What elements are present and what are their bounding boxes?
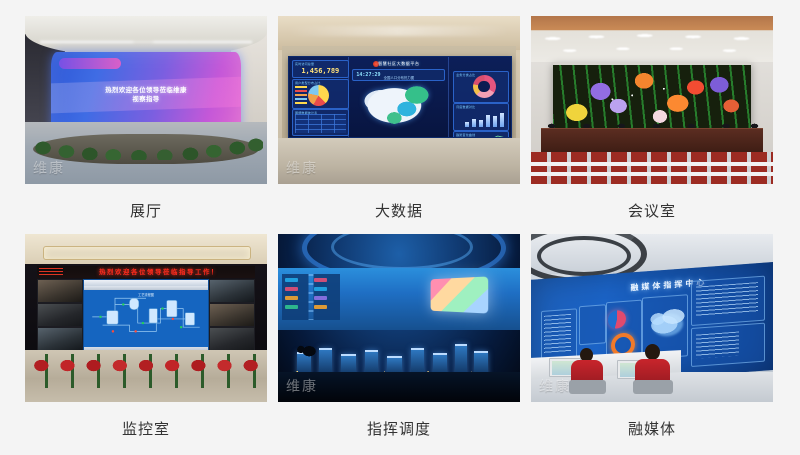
gallery-item-conference-room[interactable]: 会议室 (531, 16, 773, 234)
camera-column-left (37, 279, 83, 351)
kpi-card-title: 实时访问总量 (295, 62, 314, 66)
wall-panel-text-lines (696, 331, 740, 358)
pie-chart-card: 用户类型分布占比 (292, 79, 349, 109)
red-poinsettia-row (27, 354, 265, 388)
person-silhouette (296, 344, 318, 362)
seated-operator (567, 346, 609, 394)
line-chart-card: 趋势变化曲线 (453, 131, 509, 138)
donut-chart-card: 业务分类占比 (453, 71, 509, 103)
camera-tile (37, 303, 83, 327)
watermark-label: 维康 (286, 158, 318, 178)
wall-panel (579, 305, 605, 346)
watermark-label: 维康 (539, 376, 571, 396)
watermark-label: 维康 (286, 376, 318, 396)
donut-chart-graphic (473, 75, 496, 98)
dashboard-header-title: 智慧社区大数据平台 (349, 61, 448, 67)
office-chair (569, 380, 606, 394)
camera-tile (37, 279, 83, 303)
gallery-item-command-dispatch[interactable]: 维康 指挥调度 (278, 234, 520, 452)
ceiling-light-trough (25, 234, 267, 268)
map-label: 全国人口分布热力图 (349, 75, 448, 80)
seated-operator (631, 344, 675, 394)
camera-tile (209, 303, 255, 327)
gallery-item-big-data[interactable]: 实时访问总量 1,456,789 用户类型分布占比 明细数据统计表 (278, 16, 520, 234)
office-chair (633, 380, 673, 394)
caption-command-dispatch: 指挥调度 (278, 419, 520, 439)
banner-welcome-text: 热烈欢迎各位领导莅临指导工作！ (67, 267, 251, 276)
pie-chart-graphic (308, 85, 329, 106)
green-plants (29, 130, 263, 160)
wall-data-panels (282, 274, 340, 320)
caption-conference-room: 会议室 (531, 201, 773, 221)
led-banner-strip: 热烈欢迎各位领导莅临指导工作！ (37, 266, 255, 278)
scada-process-screen: 工艺流程图 (83, 279, 209, 353)
dashboard-pane-center: 智慧社区大数据平台 14:27:29 全国人口分布热力图 (349, 57, 449, 137)
rostrum-desk (541, 128, 763, 153)
caption-monitoring-room: 监控室 (25, 419, 267, 439)
photo-command-dispatch[interactable]: 维康 (278, 234, 520, 402)
china-map-graphic (645, 305, 691, 342)
donut-chart-title: 业务分类占比 (456, 73, 475, 77)
china-map-graphic (357, 83, 440, 133)
process-flow-diagram (84, 290, 208, 340)
wall-panel-text-lines (696, 283, 759, 318)
camera-wall-grid: 工艺流程图 (37, 279, 255, 351)
caption-exhibition-hall: 展厅 (25, 201, 267, 221)
gallery-item-converged-media[interactable]: 融媒体指挥中心 (531, 234, 773, 452)
pie-legend (295, 86, 307, 104)
video-wall-dashboard: 实时访问总量 1,456,789 用户类型分布占比 明细数据统计表 (288, 56, 512, 138)
photo-monitoring-room[interactable]: 热烈欢迎各位领导莅临指导工作！ 工艺流程图 (25, 234, 267, 402)
operator-head (645, 344, 660, 360)
photo-conference-room[interactable] (531, 16, 773, 184)
camera-tile (209, 327, 255, 351)
kpi-value: 1,456,789 (293, 67, 348, 75)
photo-exhibition-hall[interactable]: 热烈欢迎各位领导莅临维康 视察指导 维康 (25, 16, 267, 184)
audience-seating-rows (531, 152, 773, 184)
ceiling-cove-light (278, 16, 520, 50)
dashboard-pane-right: 业务分类占比 月度数据对比 趋势变化曲线 (449, 57, 511, 137)
camera-column-right (209, 279, 255, 351)
gallery-item-monitoring-room[interactable]: 热烈欢迎各位领导莅临指导工作！ 工艺流程图 (25, 234, 267, 452)
screen-welcome-text: 热烈欢迎各位领导莅临维康 视察指导 (51, 86, 241, 104)
data-table-grid (295, 114, 346, 133)
data-table-card: 明细数据统计表 (292, 109, 349, 136)
watermark-label: 维康 (33, 158, 65, 178)
bar-chart-title: 月度数据对比 (456, 105, 475, 109)
camera-tile (37, 327, 83, 351)
image-gallery-grid: 热烈欢迎各位领导莅临维康 视察指导 维康 展厅 (0, 0, 800, 455)
dashboard-pane-left: 实时访问总量 1,456,789 用户类型分布占比 明细数据统计表 (289, 57, 349, 137)
kpi-card: 实时访问总量 1,456,789 (292, 60, 349, 78)
led-dot-matrix-icon (39, 268, 63, 277)
photo-big-data[interactable]: 实时访问总量 1,456,789 用户类型分布占比 明细数据统计表 (278, 16, 520, 184)
screen-logo-badge (59, 58, 121, 69)
gallery-item-exhibition-hall[interactable]: 热烈欢迎各位领导莅临维康 视察指导 维康 展厅 (25, 16, 267, 234)
ceiling-ring-inner (537, 236, 631, 276)
photo-converged-media[interactable]: 融媒体指挥中心 (531, 234, 773, 402)
dashboard-header: 智慧社区大数据平台 (349, 59, 448, 68)
windows-logo-graphic (431, 276, 489, 313)
ceiling-light-array (531, 32, 773, 62)
caption-big-data: 大数据 (278, 201, 520, 221)
camera-tile (209, 279, 255, 303)
bar-chart-card: 月度数据对比 (453, 103, 509, 131)
bar-chart-bars (464, 111, 505, 127)
caption-converged-media: 融媒体 (531, 419, 773, 439)
